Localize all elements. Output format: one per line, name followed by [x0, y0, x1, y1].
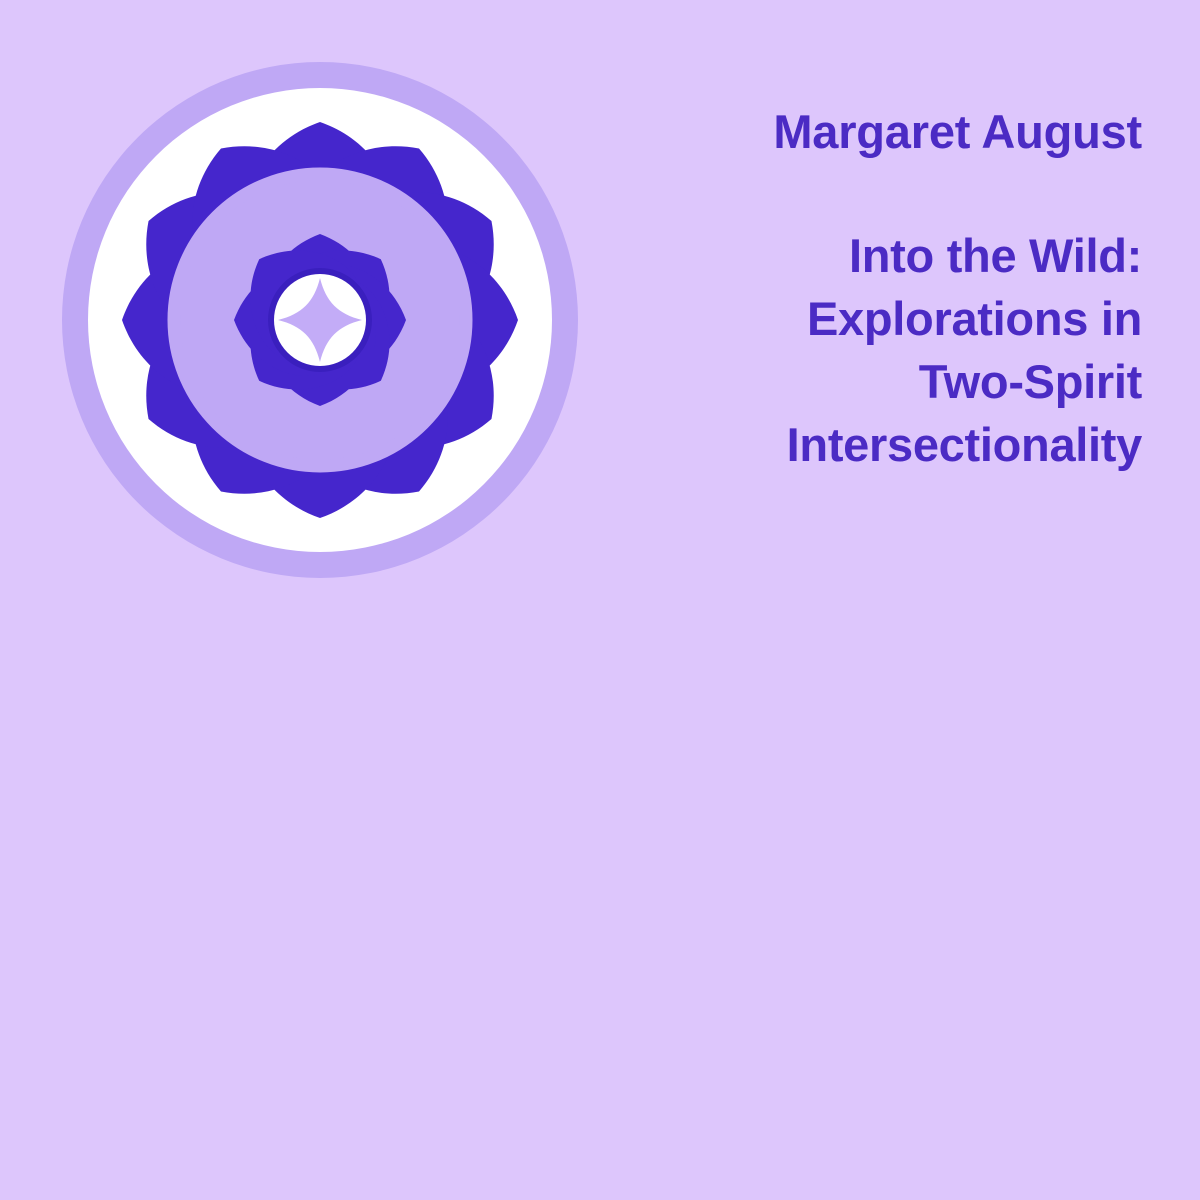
author-name: Margaret August	[640, 104, 1142, 159]
title-line-2: Explorations in	[640, 288, 1142, 351]
title-line-4: Intersectionality	[640, 414, 1142, 477]
cover-text-block: Margaret August Into the Wild: Explorati…	[640, 104, 1142, 477]
book-cover: Margaret August Into the Wild: Explorati…	[0, 0, 1200, 1200]
title-line-1: Into the Wild:	[640, 225, 1142, 288]
mandala-artwork	[62, 62, 578, 578]
text-spacer	[640, 159, 1142, 225]
mandala-svg	[62, 62, 578, 578]
title-line-3: Two-Spirit	[640, 351, 1142, 414]
book-title: Into the Wild: Explorations in Two-Spiri…	[640, 225, 1142, 477]
